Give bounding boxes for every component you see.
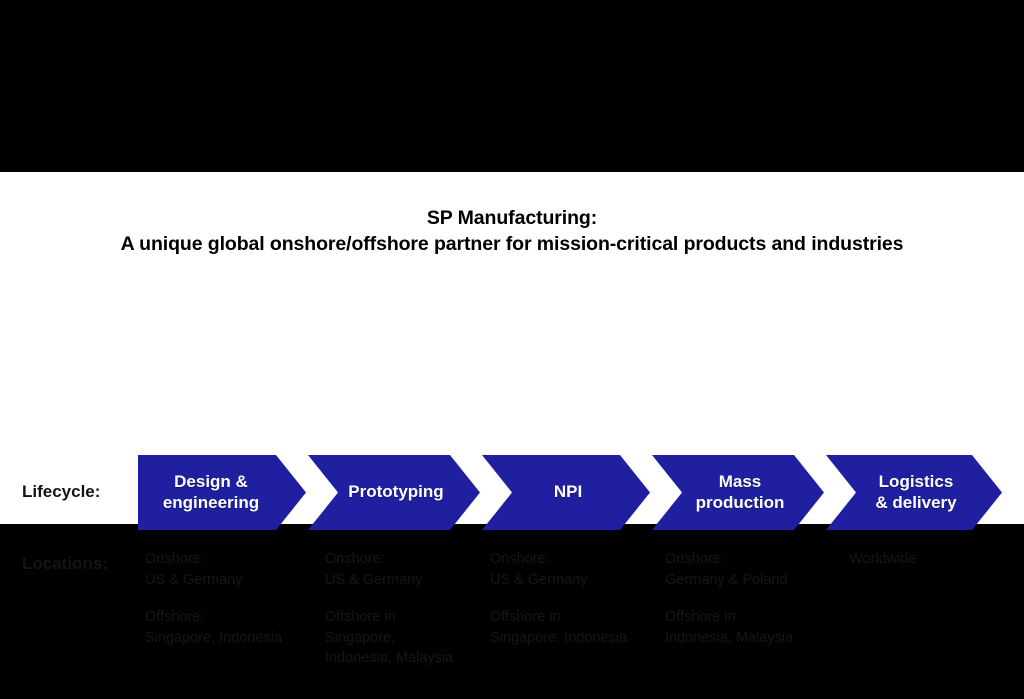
lifecycle-stage-logistics-delivery[interactable]: Logistics & delivery	[826, 455, 1002, 530]
lifecycle-stage-label: Design & engineering	[163, 472, 259, 513]
lifecycle-stage-design-engineering[interactable]: Design & engineering	[138, 455, 306, 530]
page-title: SP Manufacturing: A unique global onshor…	[0, 206, 1024, 257]
locations-onshore-text: Onshore: US & Germany	[490, 549, 660, 590]
locations-offshore-text: Offshore in Singapore, Indonesia	[490, 607, 660, 648]
lifecycle-stage-label: Prototyping	[348, 482, 443, 503]
locations-onshore-text: Onshore: US & Germany	[145, 549, 320, 590]
locations-row: Onshore: US & Germany Offshore: Singapor…	[0, 549, 1024, 679]
lifecycle-stage-prototyping[interactable]: Prototyping	[308, 455, 480, 530]
title-line-primary: SP Manufacturing:	[0, 206, 1024, 232]
locations-onshore-text: Onshore: US & Germany	[325, 549, 485, 590]
locations-column: Worldwide	[849, 549, 1009, 587]
lifecycle-row-label: Lifecycle:	[22, 482, 100, 502]
locations-onshore-text: Worldwide	[849, 549, 1009, 570]
locations-column: Onshore: US & Germany Offshore: Singapor…	[145, 549, 320, 648]
slide-panel: SP Manufacturing: A unique global onshor…	[0, 172, 1024, 524]
locations-column: Onshore: US & Germany Offshore in Singap…	[490, 549, 660, 648]
lifecycle-stage-label: Logistics & delivery	[875, 472, 956, 513]
locations-column: Onshore: Germany & Poland Offshore in In…	[665, 549, 840, 648]
lifecycle-chevron-band: Design & engineering Prototyping NPI Mas…	[138, 455, 1002, 530]
locations-offshore-text: Offshore: Singapore, Indonesia	[145, 607, 320, 648]
locations-column: Onshore: US & Germany Offshore in Singap…	[325, 549, 485, 669]
lifecycle-stage-label: Mass production	[696, 472, 785, 513]
locations-offshore-text: Offshore in Indonesia, Malaysia	[665, 607, 840, 648]
slide-canvas: SP Manufacturing: A unique global onshor…	[0, 0, 1024, 699]
locations-offshore-text: Offshore in Singapore, Indonesia, Malays…	[325, 607, 485, 669]
lifecycle-stage-mass-production[interactable]: Mass production	[652, 455, 824, 530]
lifecycle-stage-npi[interactable]: NPI	[482, 455, 650, 530]
lifecycle-stage-label: NPI	[554, 482, 582, 503]
title-line-secondary: A unique global onshore/offshore partner…	[0, 232, 1024, 258]
locations-onshore-text: Onshore: Germany & Poland	[665, 549, 840, 590]
